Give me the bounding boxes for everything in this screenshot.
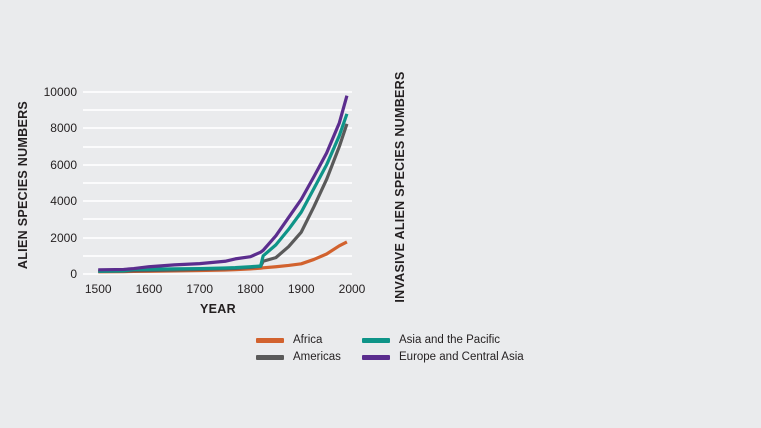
y-axis-tick-label: 10000 [17, 85, 77, 99]
figure-root: ALIEN SPECIES NUMBERS YEAR 0200040006000… [0, 0, 761, 428]
legend-label: Americas [293, 351, 341, 363]
series-layer [83, 92, 352, 274]
legend-item[interactable]: Americas [256, 349, 341, 365]
y-axis-tick-label: 2000 [17, 231, 77, 245]
series-line-asia-and-the-pacific [98, 114, 347, 271]
y-axis-tick-label: 6000 [17, 158, 77, 172]
series-line-europe-and-central-asia [98, 96, 347, 270]
y-axis-title-left: ALIEN SPECIES NUMBERS [12, 70, 34, 300]
legend-label: Europe and Central Asia [399, 351, 524, 363]
x-axis-tick-label: 2000 [322, 282, 382, 296]
x-axis-title-left: YEAR [138, 302, 298, 316]
legend-swatch-icon [362, 355, 390, 360]
legend-item[interactable]: Africa [256, 332, 322, 348]
legend: AfricaAmericasAsia and the PacificEurope… [256, 330, 556, 366]
legend-label: Asia and the Pacific [399, 334, 500, 346]
chart-panel-invasive-alien-species: INVASIVE ALIEN SPECIES NUMBERS YEAR 0500… [381, 0, 761, 330]
legend-label: Africa [293, 334, 322, 346]
y-axis-tick-label: 0 [17, 267, 77, 281]
y-axis-tick-label: 8000 [17, 121, 77, 135]
plot-area-left [83, 92, 352, 274]
y-axis-title-right: INVASIVE ALIEN SPECIES NUMBERS [389, 62, 411, 312]
legend-swatch-icon [256, 338, 284, 343]
legend-item[interactable]: Europe and Central Asia [362, 349, 524, 365]
legend-swatch-icon [362, 338, 390, 343]
chart-panel-alien-species: ALIEN SPECIES NUMBERS YEAR 0200040006000… [0, 0, 381, 330]
legend-swatch-icon [256, 355, 284, 360]
legend-item[interactable]: Asia and the Pacific [362, 332, 500, 348]
y-axis-tick-label: 4000 [17, 194, 77, 208]
